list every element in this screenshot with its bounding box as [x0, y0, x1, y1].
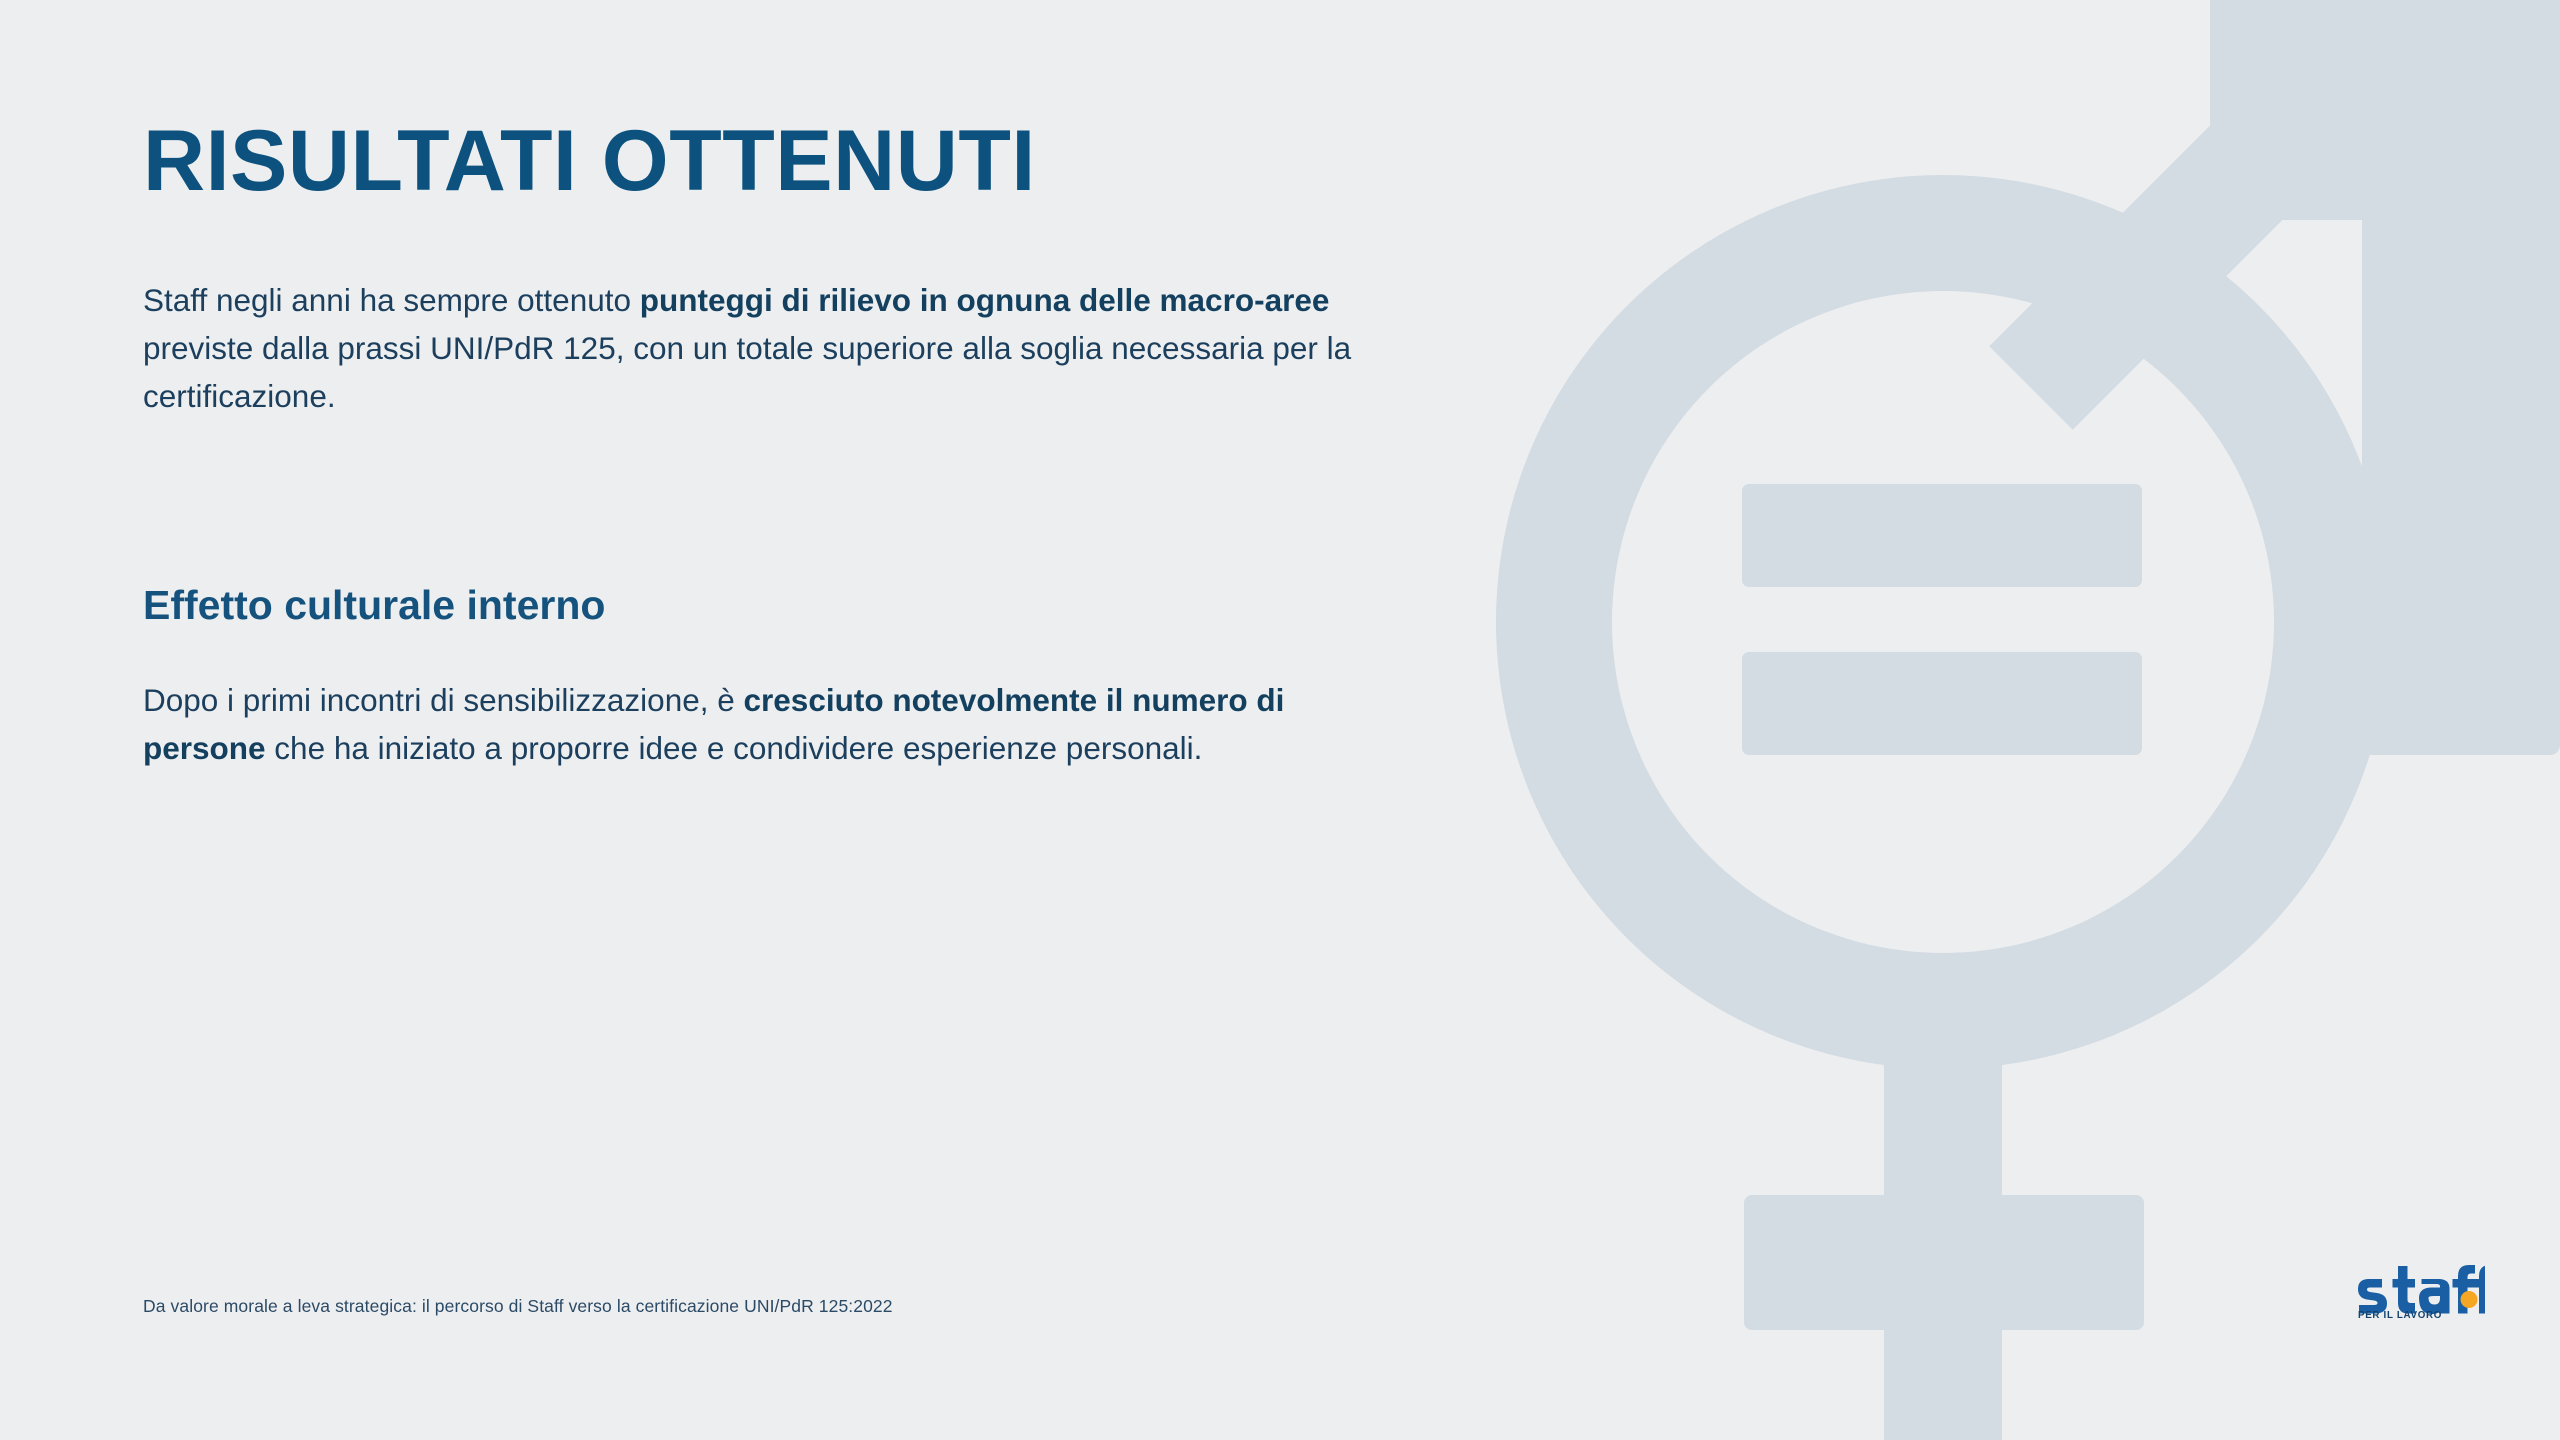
female-stem	[1884, 980, 2002, 1440]
staff-logo: PER IL LAVORO	[2355, 1258, 2485, 1320]
intro-text-part2: previste dalla prassi UNI/PdR 125, con u…	[143, 330, 1351, 414]
slide-content: RISULTATI OTTENUTI Staff negli anni ha s…	[143, 0, 1393, 1440]
section-heading: Effetto culturale interno	[143, 583, 605, 628]
male-arrow-shaft	[1989, 0, 2468, 430]
intro-text-part1: Staff negli anni ha sempre ottenuto	[143, 282, 640, 318]
footer-note: Da valore morale a leva strategica: il p…	[143, 1296, 893, 1317]
logo-dot	[2461, 1291, 2478, 1308]
equality-circle-ring	[1496, 175, 2390, 1069]
culture-text-part2: che ha iniziato a proporre idee e condiv…	[266, 730, 1203, 766]
equals-bar-bottom	[1742, 652, 2142, 755]
culture-text-part1: Dopo i primi incontri di sensibilizzazio…	[143, 682, 744, 718]
equals-bar-top	[1742, 484, 2142, 587]
intro-paragraph: Staff negli anni ha sempre ottenuto punt…	[143, 276, 1398, 420]
male-arrow-head-horizontal	[2210, 0, 2560, 220]
page-title: RISULTATI OTTENUTI	[143, 118, 1036, 204]
female-crossbar	[1744, 1195, 2144, 1330]
intro-text-emphasis: punteggi di rilievo in ognuna delle macr…	[640, 282, 1330, 318]
logo-tagline: PER IL LAVORO	[2358, 1310, 2442, 1320]
male-arrow-head-vertical	[2362, 0, 2560, 755]
culture-paragraph: Dopo i primi incontri di sensibilizzazio…	[143, 676, 1393, 772]
